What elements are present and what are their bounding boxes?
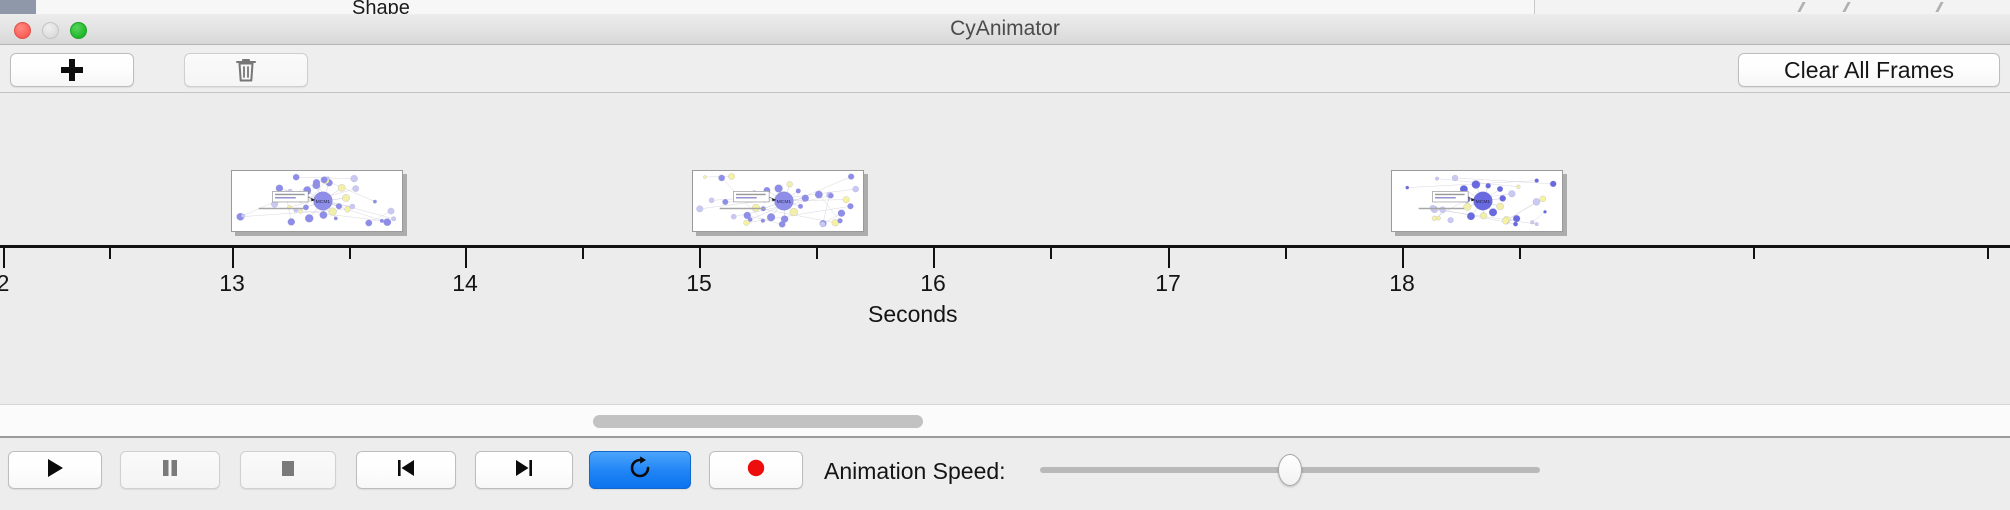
tick-minor bbox=[816, 248, 818, 259]
stop-icon bbox=[277, 457, 299, 484]
tick-minor bbox=[1753, 248, 1755, 259]
bg-cell bbox=[434, 0, 595, 14]
timeline-panel[interactable]: MCM1MCM1MCM1 2131415161718 Seconds bbox=[0, 93, 2010, 404]
tick-major bbox=[3, 248, 5, 268]
loop-button[interactable] bbox=[589, 451, 691, 489]
tick-major bbox=[933, 248, 935, 268]
tick-label: 16 bbox=[920, 270, 946, 297]
cyanimator-window: Shape CyAnimator Clear All Frames M bbox=[0, 0, 2010, 510]
tick-major bbox=[1168, 248, 1170, 268]
frame-thumbnail-2[interactable]: MCM1 bbox=[692, 170, 864, 232]
bg-window-label: Shape bbox=[352, 0, 410, 14]
record-button[interactable] bbox=[709, 451, 803, 489]
timeline-scrollbar[interactable] bbox=[0, 404, 2010, 438]
bg-cell bbox=[36, 0, 227, 14]
animation-speed-slider-thumb[interactable] bbox=[1278, 454, 1302, 486]
tick-minor bbox=[1987, 248, 1989, 259]
tick-major bbox=[699, 248, 701, 268]
playback-toolbar: Animation Speed: bbox=[0, 440, 2010, 510]
window-title: CyAnimator bbox=[0, 14, 2010, 44]
pause-button[interactable] bbox=[120, 451, 220, 489]
title-bar: CyAnimator bbox=[0, 14, 2010, 45]
trash-icon bbox=[234, 57, 258, 83]
plus-icon bbox=[61, 59, 83, 81]
play-button[interactable] bbox=[8, 451, 102, 489]
frame-thumbnail-1[interactable]: MCM1 bbox=[231, 170, 403, 232]
animation-speed-label: Animation Speed: bbox=[824, 458, 1006, 485]
tick-major bbox=[465, 248, 467, 268]
skip-fwd-icon bbox=[512, 457, 536, 484]
tick-major bbox=[1402, 248, 1404, 268]
add-frame-button[interactable] bbox=[10, 53, 134, 87]
bg-slash-icon bbox=[1935, 2, 1957, 12]
bg-cell bbox=[894, 0, 1075, 14]
loop-icon bbox=[628, 456, 652, 485]
next-button[interactable] bbox=[475, 451, 573, 489]
frame-thumbnail-3[interactable]: MCM1 bbox=[1391, 170, 1563, 232]
tick-minor bbox=[1050, 248, 1052, 259]
timeline-axis bbox=[0, 245, 2010, 248]
tick-minor bbox=[1285, 248, 1287, 259]
pause-icon bbox=[159, 457, 181, 484]
tick-minor bbox=[109, 248, 111, 259]
axis-title: Seconds bbox=[868, 301, 958, 328]
tick-label: 15 bbox=[686, 270, 712, 297]
record-icon bbox=[744, 456, 768, 485]
previous-button[interactable] bbox=[356, 451, 456, 489]
bg-cell bbox=[1274, 0, 1535, 14]
tick-label: 2 bbox=[0, 270, 9, 297]
tick-label: 17 bbox=[1155, 270, 1181, 297]
frame-toolbar: Clear All Frames bbox=[0, 45, 2010, 93]
tick-minor bbox=[349, 248, 351, 259]
bg-cell bbox=[226, 0, 335, 14]
delete-frame-button[interactable] bbox=[184, 53, 308, 87]
bg-slash-icon bbox=[1797, 2, 1819, 12]
svg-text:MCM1: MCM1 bbox=[777, 199, 792, 205]
bg-dark-cell bbox=[0, 0, 36, 14]
tick-label: 13 bbox=[219, 270, 245, 297]
svg-text:MCM1: MCM1 bbox=[316, 199, 331, 205]
bg-cell bbox=[1074, 0, 1275, 14]
tick-label: 14 bbox=[452, 270, 478, 297]
tick-minor bbox=[1519, 248, 1521, 259]
bg-cell bbox=[714, 0, 895, 14]
bg-slash-icon bbox=[1842, 2, 1864, 12]
svg-text:MCM1: MCM1 bbox=[1476, 199, 1491, 205]
tick-major bbox=[232, 248, 234, 268]
skip-back-icon bbox=[394, 457, 418, 484]
clear-all-frames-button[interactable]: Clear All Frames bbox=[1738, 53, 2000, 87]
bg-cell bbox=[594, 0, 715, 14]
stop-button[interactable] bbox=[240, 451, 336, 489]
scrollbar-thumb[interactable] bbox=[593, 415, 923, 428]
tick-label: 18 bbox=[1389, 270, 1415, 297]
play-icon bbox=[44, 457, 66, 484]
background-window-strip: Shape bbox=[0, 0, 2010, 14]
tick-minor bbox=[582, 248, 584, 259]
